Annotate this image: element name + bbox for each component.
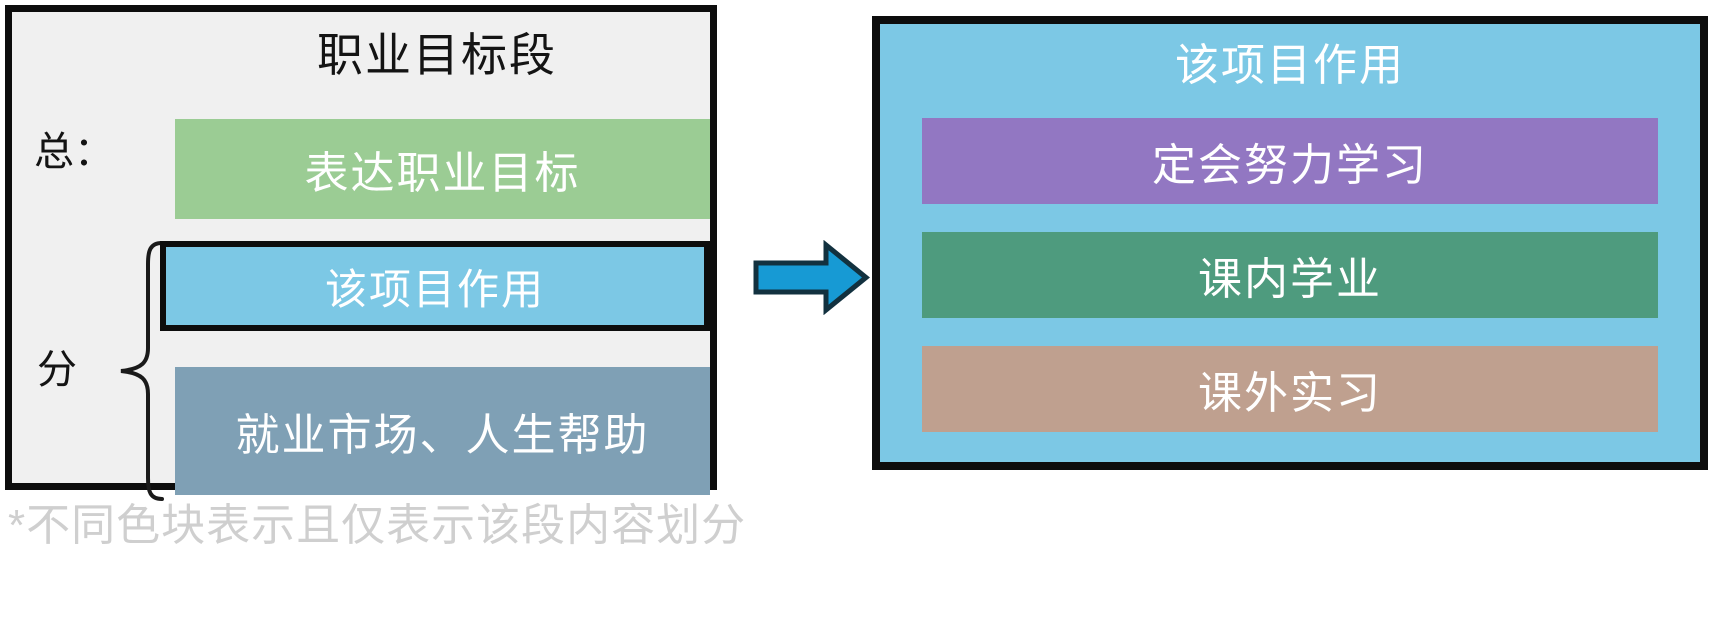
footnote: *不同色块表示且仅表示该段内容划分: [8, 498, 746, 554]
left-panel: 职业目标段 总： 分 表达职业目标 该项目作用 就业市场、人生帮助: [5, 5, 717, 490]
right-block-in-class-label: 课内学业: [1198, 243, 1382, 307]
right-block-study-hard-label: 定会努力学习: [1152, 129, 1428, 193]
left-block-express-goal: 表达职业目标: [175, 119, 710, 219]
right-block-study-hard: 定会努力学习: [922, 118, 1658, 204]
left-block-job-market-label: 就业市场、人生帮助: [236, 399, 650, 463]
left-block-project-role: 该项目作用: [160, 241, 710, 331]
right-panel-title: 该项目作用: [880, 38, 1700, 94]
label-summary: 总：: [34, 128, 114, 176]
left-block-project-role-label: 该项目作用: [325, 256, 545, 317]
right-arrow-icon: [752, 240, 870, 315]
right-block-internship: 课外实习: [922, 346, 1658, 432]
left-panel-title: 职业目标段: [172, 26, 702, 84]
left-block-job-market: 就业市场、人生帮助: [175, 367, 710, 495]
curly-brace-icon: [118, 240, 164, 502]
right-block-in-class: 课内学业: [922, 232, 1658, 318]
right-panel: 该项目作用 定会努力学习 课内学业 课外实习: [872, 16, 1708, 470]
left-block-express-goal-label: 表达职业目标: [305, 137, 581, 201]
right-block-internship-label: 课外实习: [1198, 357, 1382, 421]
diagram-canvas: 职业目标段 总： 分 表达职业目标 该项目作用 就业市场、人生帮助 该项目作用 …: [0, 0, 1713, 624]
label-detail: 分: [37, 346, 77, 394]
